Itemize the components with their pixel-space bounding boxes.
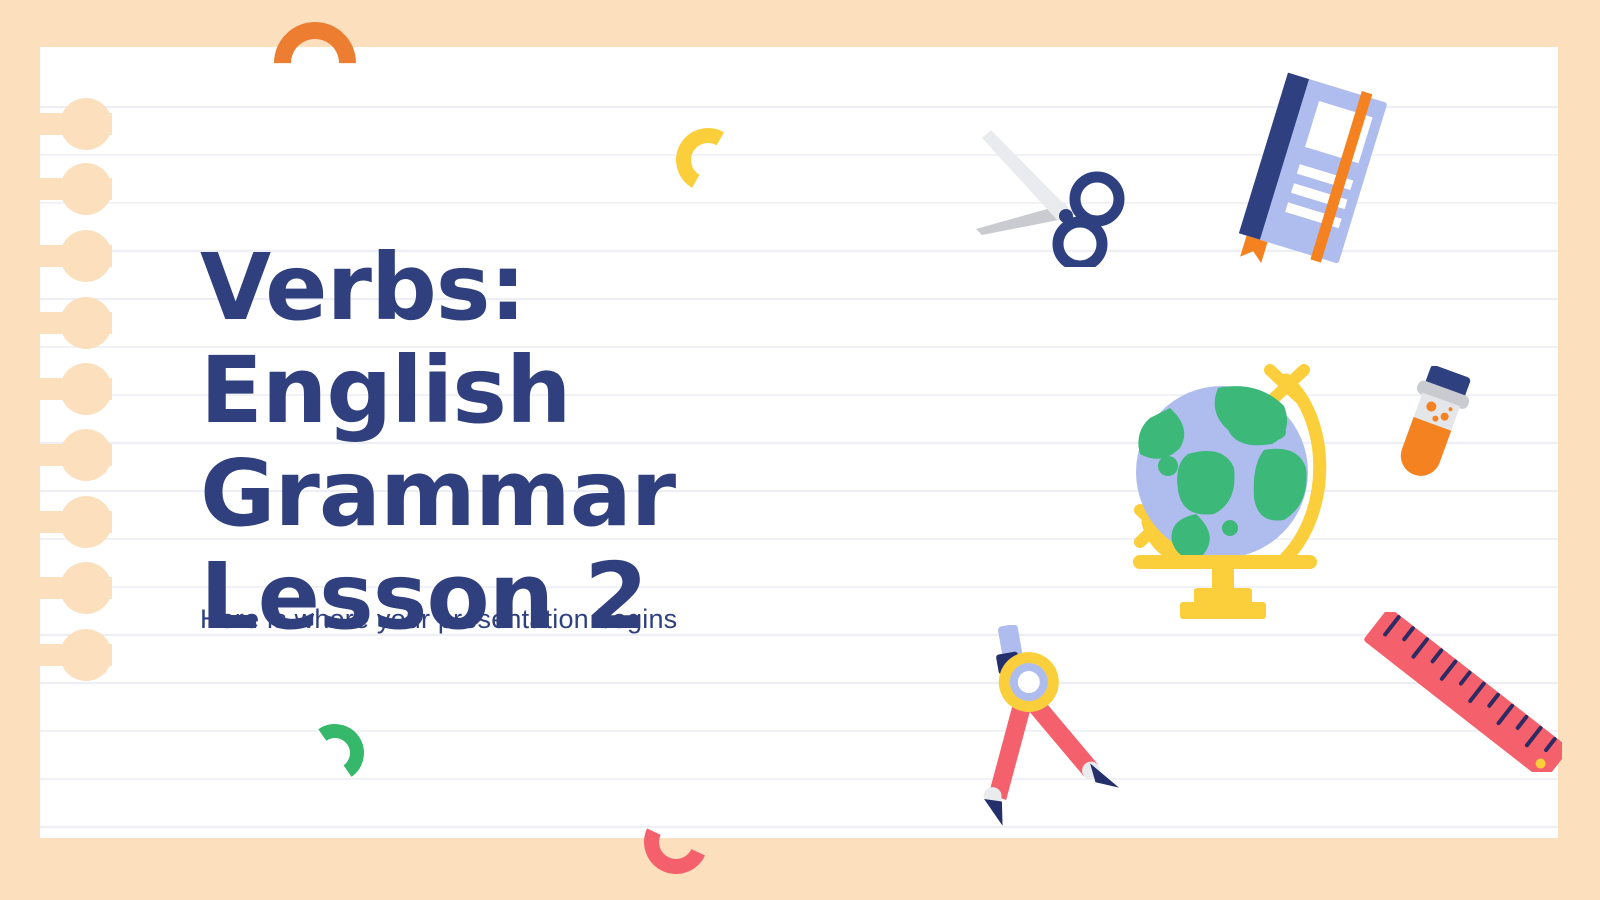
title-line-2: English Grammar [200,337,675,547]
compass-icon [955,625,1140,830]
slide-subtitle: Here is where your presentation begins [200,604,677,635]
binding-hole [0,312,112,334]
binding-hole [0,511,112,533]
binding-hole [0,178,112,200]
test-tube-icon [1380,366,1485,491]
ruler-icon [1362,612,1562,772]
scissors-icon [962,122,1132,267]
binding-hole [0,577,112,599]
notebook-icon [1212,72,1412,277]
title-block: Verbs: English Grammar Lesson 2 [200,236,1020,648]
binding-hole [0,644,112,666]
binding-hole [0,378,112,400]
globe-icon [1118,362,1333,622]
title-line-1: Verbs: [200,234,525,341]
binding-hole [0,444,112,466]
presentation-slide: Verbs: English Grammar Lesson 2 Here is … [0,0,1600,900]
binding-hole [0,113,112,135]
binding-hole [0,245,112,267]
page-title: Verbs: English Grammar Lesson 2 [200,236,1020,648]
